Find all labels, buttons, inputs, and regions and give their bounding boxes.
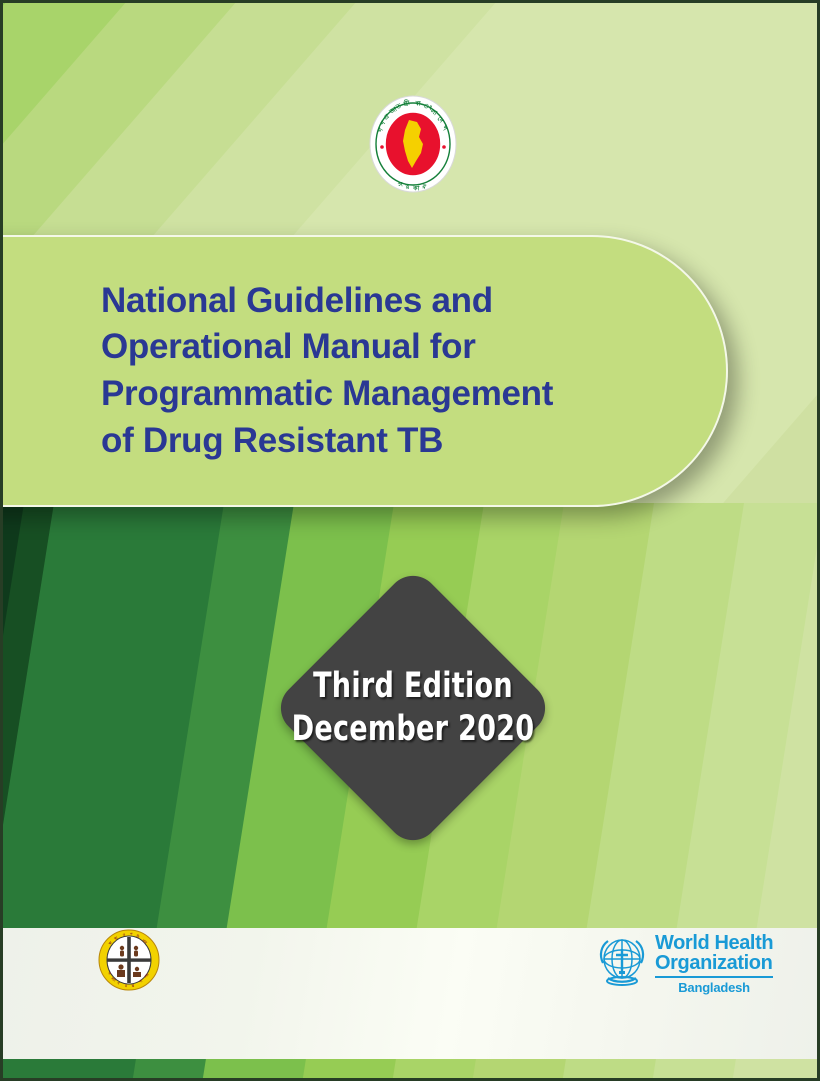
title-line-4: of Drug Resistant TB <box>101 418 553 465</box>
document-cover: গ ণ প্র জা ত ন্ত্রী বা ং লা দে শ স র কা … <box>0 0 820 1081</box>
svg-text:বা: বা <box>414 100 421 108</box>
title-line-2: Operational Manual for <box>101 324 553 371</box>
who-divider <box>655 976 773 978</box>
title-line-1: National Guidelines and <box>101 278 553 325</box>
government-of-bangladesh-emblem: গ ণ প্র জা ত ন্ত্রী বা ং লা দে শ স র কা … <box>369 95 457 193</box>
page-title: National Guidelines and Operational Manu… <box>101 278 553 464</box>
title-panel: National Guidelines and Operational Manu… <box>0 235 728 507</box>
edition-badge: Third Edition December 2020 <box>270 565 556 851</box>
edition-line-1: Third Edition <box>313 665 513 708</box>
edition-label: Third Edition December 2020 <box>290 565 536 851</box>
title-line-3: Programmatic Management <box>101 371 553 418</box>
world-health-organization-logo: World Health Organization Bangladesh <box>596 933 773 994</box>
svg-text:কা: কা <box>412 185 420 192</box>
edition-line-2: December 2020 <box>292 708 535 751</box>
who-name-line-2: Organization <box>655 953 773 973</box>
who-name-line-1: World Health <box>655 933 773 953</box>
who-emblem-icon <box>596 933 648 988</box>
who-wordmark: World Health Organization Bangladesh <box>655 933 773 994</box>
svg-text:ম: ম <box>124 984 127 988</box>
who-country-label: Bangladesh <box>655 981 773 994</box>
directorate-general-of-health-services-logo: স্বা স্থ্য ও প রি বার ক ল্যা ণ ম ন্ত্র ণ… <box>98 929 160 991</box>
